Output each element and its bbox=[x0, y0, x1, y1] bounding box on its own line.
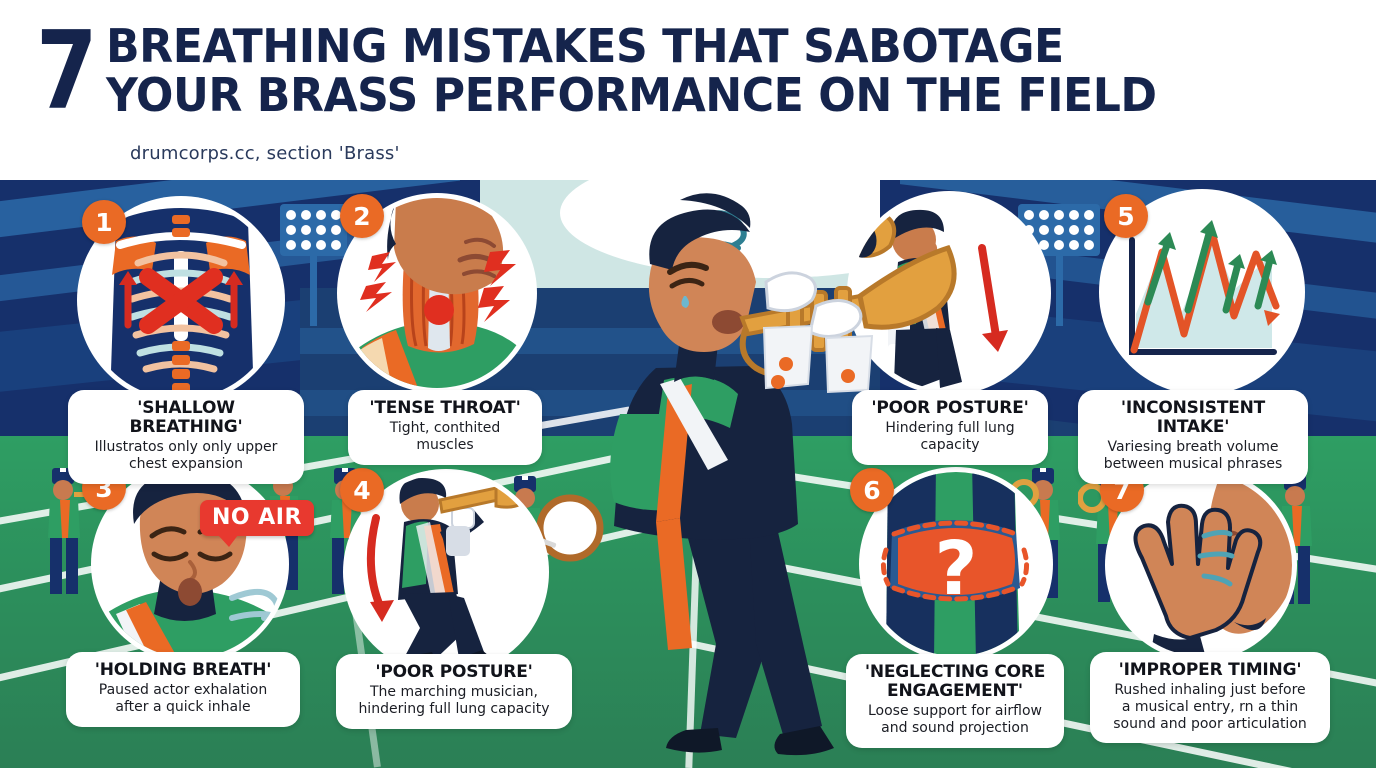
holding-breath-face-icon bbox=[96, 470, 284, 658]
infographic-root: 7 BREATHING MISTAKES THAT SABOTAGE YOUR … bbox=[0, 0, 1376, 768]
caption-card-4: 'POOR POSTURE' The marching musician, hi… bbox=[336, 654, 572, 729]
caption-card-7: 'IMPROPER TIMING' Rushed inhaling just b… bbox=[1090, 652, 1330, 743]
caption-desc: Rushed inhaling just before a musical en… bbox=[1104, 682, 1316, 732]
caption-desc: Loose support for airflow and sound proj… bbox=[860, 703, 1050, 737]
caption-card-poor-posture-top: 'POOR POSTURE' Hindering full lung capac… bbox=[852, 390, 1048, 465]
caption-card-2: 'TENSE THROAT' Tight, conthited muscles bbox=[348, 390, 542, 465]
step-badge-6: 6 bbox=[850, 468, 894, 512]
caption-card-6: 'NEGLECTING CORE ENGAGEMENT' Loose suppo… bbox=[846, 654, 1064, 748]
headline-line-1: BREATHING MISTAKES THAT SABOTAGE bbox=[106, 22, 1157, 71]
source-subtitle: drumcorps.cc, section 'Brass' bbox=[130, 143, 400, 164]
caption-desc: Variesing breath volume between musical … bbox=[1092, 439, 1294, 473]
caption-desc: The marching musician, hindering full lu… bbox=[350, 684, 558, 718]
header: 7 BREATHING MISTAKES THAT SABOTAGE YOUR … bbox=[0, 0, 1376, 180]
illustration-circle-3 bbox=[96, 470, 284, 658]
headline-text: BREATHING MISTAKES THAT SABOTAGE YOUR BR… bbox=[106, 22, 1200, 120]
caption-card-5: 'INCONSISTENT INTAKE' Variesing breath v… bbox=[1078, 390, 1308, 484]
caption-card-3: 'HOLDING BREATH' Paused actor exhalation… bbox=[66, 652, 300, 727]
caption-title: 'POOR POSTURE' bbox=[350, 663, 558, 682]
caption-desc: Hindering full lung capacity bbox=[866, 420, 1034, 454]
no-air-callout: NO AIR bbox=[200, 500, 314, 536]
step-badge-4: 4 bbox=[340, 468, 384, 512]
step-badge-2: 2 bbox=[340, 194, 384, 238]
caption-title: 'SHALLOW BREATHING' bbox=[82, 399, 290, 437]
stadium-light-left bbox=[280, 204, 347, 326]
headline-line-2: YOUR BRASS PERFORMANCE ON THE FIELD bbox=[106, 71, 1157, 120]
caption-title: 'INCONSISTENT INTAKE' bbox=[1092, 399, 1294, 437]
title-row: 7 BREATHING MISTAKES THAT SABOTAGE YOUR … bbox=[36, 22, 1200, 121]
caption-title: 'TENSE THROAT' bbox=[362, 399, 528, 418]
caption-title: 'IMPROPER TIMING' bbox=[1104, 661, 1316, 680]
step-badge-5: 5 bbox=[1104, 194, 1148, 238]
caption-card-1: 'SHALLOW BREATHING' Illustratos only onl… bbox=[68, 390, 304, 484]
headline-number: 7 bbox=[36, 22, 94, 121]
step-badge-1: 1 bbox=[82, 200, 126, 244]
caption-title: 'NEGLECTING CORE ENGAGEMENT' bbox=[860, 663, 1050, 701]
caption-desc: Paused actor exhalation after a quick in… bbox=[80, 682, 286, 716]
caption-title: 'HOLDING BREATH' bbox=[80, 661, 286, 680]
caption-desc: Tight, conthited muscles bbox=[362, 420, 528, 454]
stadium-scene: 1 'SHALLOW BREATHING' Illustratos only o… bbox=[0, 168, 1376, 768]
caption-desc: Illustratos only only upper chest expans… bbox=[82, 439, 290, 473]
caption-title: 'POOR POSTURE' bbox=[866, 399, 1034, 418]
